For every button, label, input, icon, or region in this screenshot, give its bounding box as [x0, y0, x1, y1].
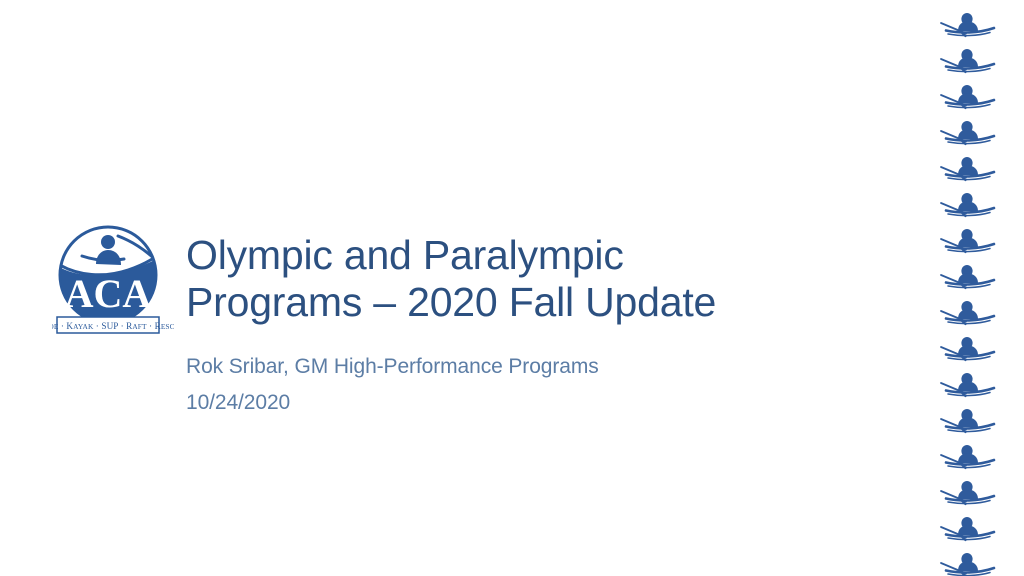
kayaker-icon	[938, 46, 1000, 76]
kayaker-icon	[938, 442, 1000, 472]
kayaker-icon	[938, 262, 1000, 292]
kayaker-icon	[938, 10, 1000, 40]
kayaker-icon	[938, 118, 1000, 148]
kayaker-icon	[938, 298, 1000, 328]
kayaker-icon	[938, 334, 1000, 364]
kayaker-icon	[938, 550, 1000, 576]
kayaker-icon	[938, 514, 1000, 544]
title-slide: ACA CANOE · KAYAK · SUP · RAFT · RESCUE …	[0, 0, 1024, 576]
logo-acronym: ACA	[65, 271, 152, 316]
presenter-line: Rok Sribar, GM High-Performance Programs	[186, 349, 886, 385]
kayaker-icon	[938, 226, 1000, 256]
subtitle-group: Rok Sribar, GM High-Performance Programs…	[186, 349, 886, 421]
date-line: 10/24/2020	[186, 385, 886, 421]
kayaker-icon	[938, 190, 1000, 220]
page-title: Olympic and Paralympic Programs – 2020 F…	[186, 232, 886, 326]
kayaker-icon	[938, 82, 1000, 112]
logo-tagline: CANOE · KAYAK · SUP · RAFT · RESCUE	[52, 321, 174, 331]
kayaker-icon	[938, 406, 1000, 436]
kayaker-icon	[938, 370, 1000, 400]
slide-text-block: Olympic and Paralympic Programs – 2020 F…	[186, 232, 886, 421]
kayaker-icon	[938, 154, 1000, 184]
aca-logo: ACA CANOE · KAYAK · SUP · RAFT · RESCUE	[52, 224, 174, 338]
kayaker-icon	[938, 478, 1000, 508]
kayaker-decoration-strip	[930, 0, 1024, 576]
